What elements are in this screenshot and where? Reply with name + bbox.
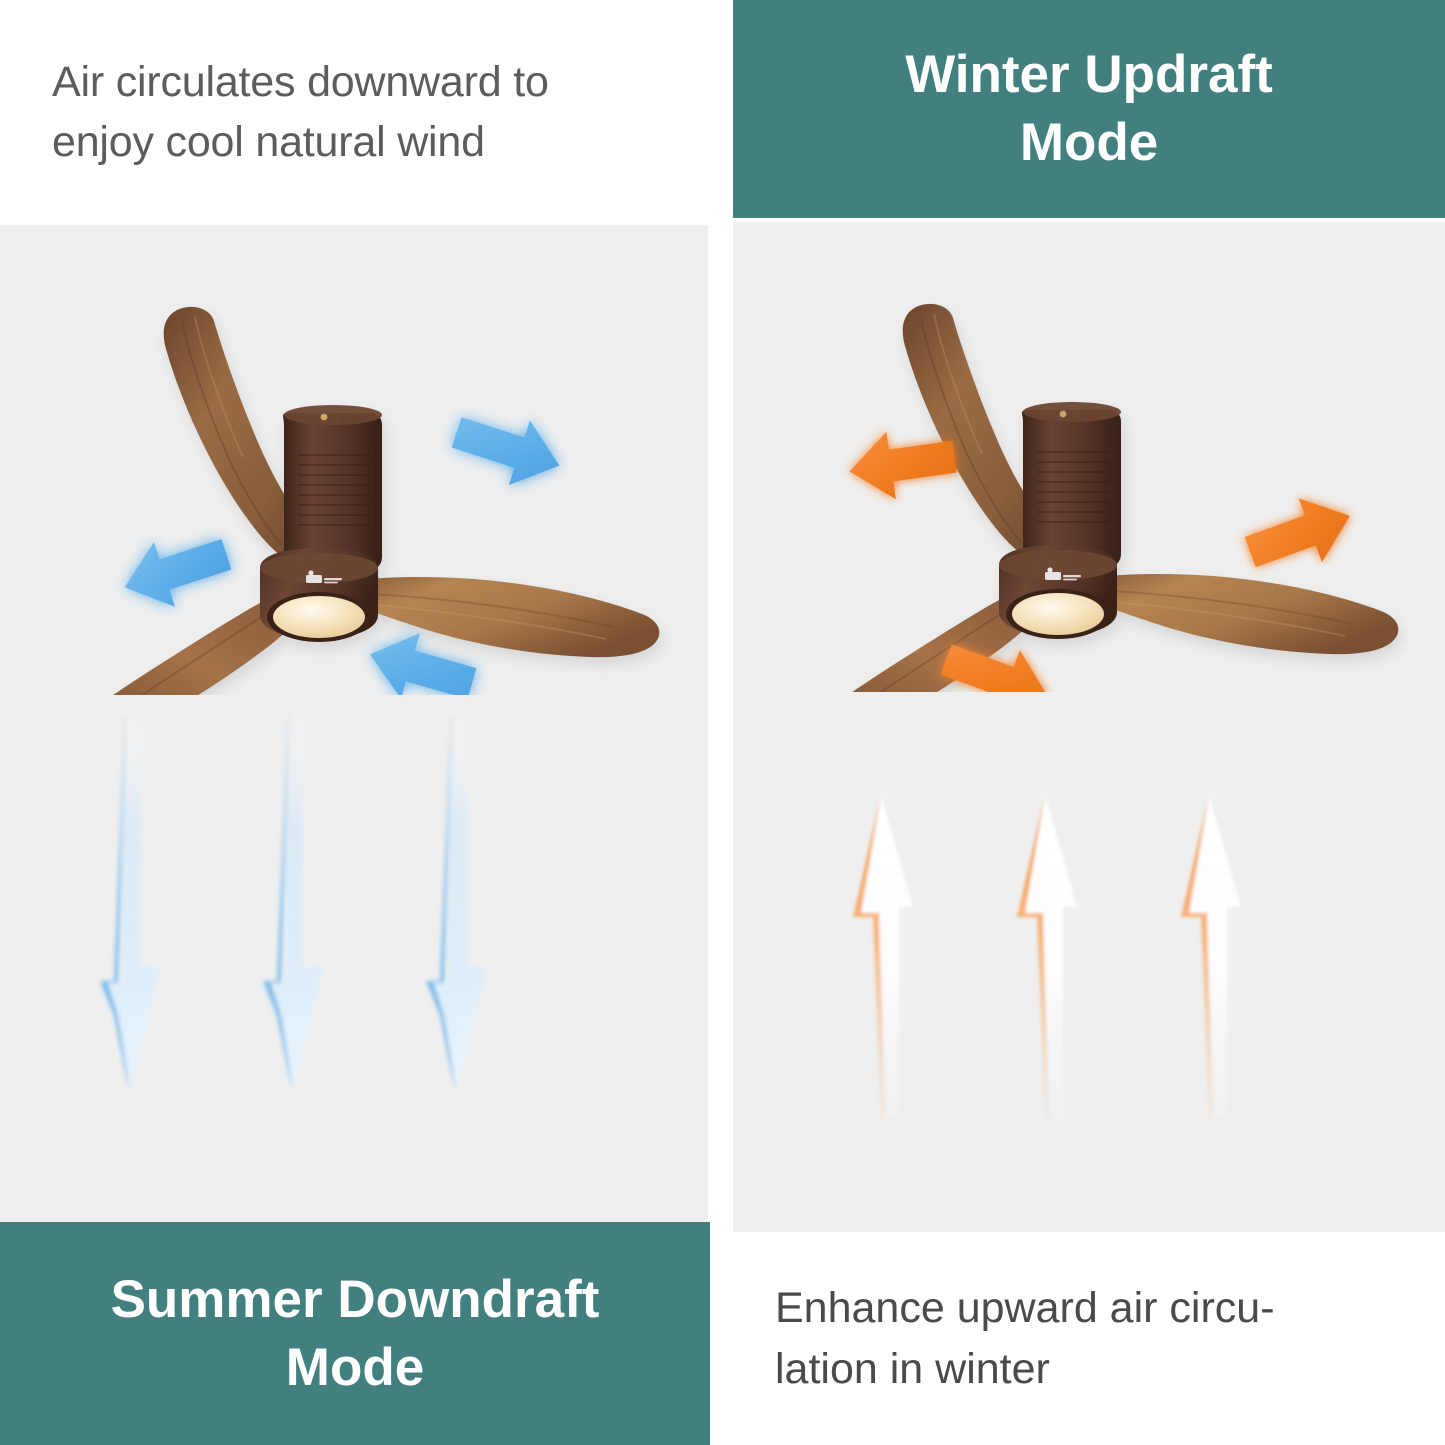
winter-caption-line-1: Enhance upward air circu- — [775, 1284, 1275, 1332]
summer-title-line-1: Summer Downdraft — [111, 1270, 600, 1329]
brand-logo — [1045, 567, 1081, 580]
summer-downdraft-photo — [0, 225, 708, 1222]
downdraft-arrow-3 — [426, 715, 486, 1090]
fan-hub — [999, 545, 1117, 636]
winter-caption-text: Enhance upward air circu- lation in wint… — [775, 1278, 1275, 1398]
header-band: Air circulates downward to enjoy cool na… — [0, 0, 1445, 225]
orange-arrow-right — [1239, 484, 1362, 584]
summer-caption-text: Air circulates downward to enjoy cool na… — [52, 53, 549, 172]
winter-title-line-1: Winter Updraft — [905, 45, 1273, 104]
summer-mode-title-panel: Summer Downdraft Mode — [0, 1222, 710, 1445]
fan-blade-right — [1067, 574, 1398, 654]
summer-caption-line-1: Air circulates downward to — [52, 58, 549, 106]
winter-fan-stage — [733, 222, 1445, 1232]
summer-caption-line-2: enjoy cool natural wind — [52, 118, 485, 166]
led-light-lens — [273, 596, 365, 638]
winter-flow-layer — [733, 222, 1445, 1232]
motor-vent-lines — [298, 455, 370, 525]
summer-radial-arrows — [114, 400, 570, 695]
blue-arrow-lower-right — [361, 622, 482, 695]
fan-motor-housing — [1022, 410, 1121, 568]
brand-logo — [306, 570, 342, 583]
winter-mode-title-text: Winter Updraft Mode — [865, 41, 1313, 177]
led-light-lens — [1012, 593, 1104, 635]
summer-caption-panel: Air circulates downward to enjoy cool na… — [0, 0, 710, 225]
orange-arrow-lower-center — [935, 628, 1060, 692]
updraft-arrow-3 — [1181, 795, 1241, 1117]
ceiling-fan-illustration-summer — [14, 265, 704, 695]
fan-motor-housing — [283, 413, 382, 571]
updraft-arrow-2 — [1017, 795, 1077, 1117]
summer-mode-title-text: Summer Downdraft Mode — [85, 1266, 626, 1402]
fan-blade-upper-left — [903, 304, 1053, 562]
blue-arrow-upper-right — [446, 400, 570, 498]
summer-flow-layer — [0, 225, 708, 1222]
winter-mode-title-panel: Winter Updraft Mode — [733, 0, 1445, 218]
motor-vent-lines — [1037, 452, 1109, 522]
orange-arrow-left — [845, 423, 959, 505]
downdraft-arrow-1 — [100, 715, 160, 1090]
downdraft-flow-arrows — [96, 715, 566, 1115]
winter-updraft-photo — [733, 222, 1445, 1232]
fan-hub — [260, 548, 378, 639]
fan-body-group — [793, 304, 1399, 692]
led-bezel — [1006, 589, 1110, 639]
summer-title-line-2: Mode — [286, 1338, 424, 1397]
winter-caption-panel: Enhance upward air circu- lation in wint… — [733, 1232, 1445, 1445]
winter-title-line-2: Mode — [1020, 113, 1158, 172]
led-bezel — [267, 592, 371, 642]
fan-blade-lower-left — [54, 603, 294, 695]
downdraft-arrow-2 — [263, 715, 323, 1090]
updraft-arrow-1 — [853, 795, 913, 1117]
winter-radial-arrows — [845, 423, 1362, 692]
winter-caption-line-2: lation in winter — [775, 1345, 1050, 1393]
fan-body-group — [54, 307, 660, 695]
fan-blade-upper-left — [164, 307, 314, 565]
fan-blade-lower-left — [793, 600, 1033, 692]
updraft-flow-arrows — [841, 787, 1321, 1132]
blue-arrow-left — [114, 522, 237, 620]
infographic-poster: Air circulates downward to enjoy cool na… — [0, 0, 1445, 1445]
fan-blade-right — [328, 577, 659, 657]
summer-fan-stage — [0, 225, 708, 1222]
ceiling-fan-illustration-winter — [733, 262, 1433, 692]
